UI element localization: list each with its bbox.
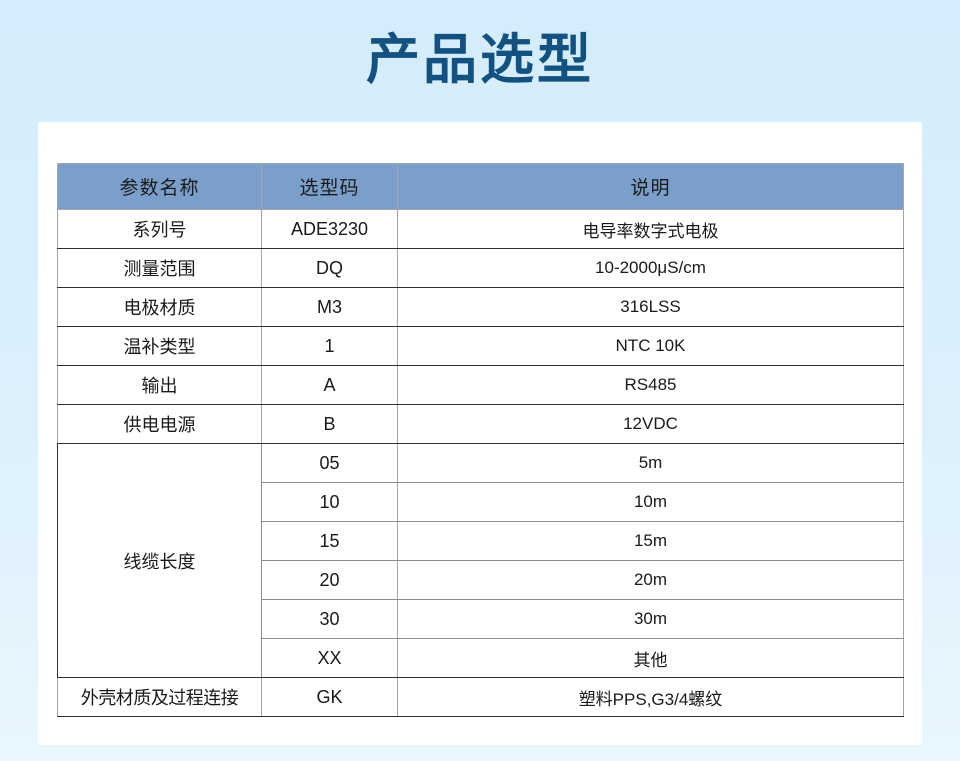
cell-description: 30m bbox=[398, 600, 904, 639]
page-title: 产品选型 bbox=[366, 33, 594, 87]
table-header-row: 参数名称 选型码 说明 bbox=[58, 164, 904, 210]
cell-parameter-name: 电极材质 bbox=[58, 288, 262, 327]
cell-selection-code: 30 bbox=[262, 600, 398, 639]
cell-description: 5m bbox=[398, 444, 904, 483]
product-selection-table: 参数名称 选型码 说明 系列号 ADE3230 电导率数字式电极 测量范围 DQ… bbox=[57, 163, 904, 717]
table-row: 输出 A RS485 bbox=[58, 366, 904, 405]
cell-selection-code: B bbox=[262, 405, 398, 444]
cell-parameter-name: 温补类型 bbox=[58, 327, 262, 366]
cell-description: 塑料PPS,G3/4螺纹 bbox=[398, 678, 904, 717]
cell-selection-code: 1 bbox=[262, 327, 398, 366]
cell-parameter-name: 供电电源 bbox=[58, 405, 262, 444]
cell-selection-code: GK bbox=[262, 678, 398, 717]
cell-description: RS485 bbox=[398, 366, 904, 405]
cell-selection-code: 05 bbox=[262, 444, 398, 483]
cell-description: 12VDC bbox=[398, 405, 904, 444]
cell-selection-code: DQ bbox=[262, 249, 398, 288]
cell-parameter-name-cable-length: 线缆长度 bbox=[58, 444, 262, 678]
cell-description: 其他 bbox=[398, 639, 904, 678]
page-title-area: 产品选型 bbox=[0, 0, 960, 120]
table-row: 供电电源 B 12VDC bbox=[58, 405, 904, 444]
cell-parameter-name: 输出 bbox=[58, 366, 262, 405]
cell-description: NTC 10K bbox=[398, 327, 904, 366]
cell-description: 20m bbox=[398, 561, 904, 600]
cell-selection-code: ADE3230 bbox=[262, 210, 398, 249]
cell-description: 10m bbox=[398, 483, 904, 522]
cell-description: 316LSS bbox=[398, 288, 904, 327]
cell-selection-code: 15 bbox=[262, 522, 398, 561]
table-header: 参数名称 选型码 说明 bbox=[58, 164, 904, 210]
table-row: 测量范围 DQ 10-2000μS/cm bbox=[58, 249, 904, 288]
table-row: 电极材质 M3 316LSS bbox=[58, 288, 904, 327]
cell-selection-code: A bbox=[262, 366, 398, 405]
cell-parameter-name: 外壳材质及过程连接 bbox=[58, 678, 262, 717]
cell-description: 10-2000μS/cm bbox=[398, 249, 904, 288]
product-selection-page: 产品选型 参数名称 选型码 说明 系列号 ADE3230 电导率数字式 bbox=[0, 0, 960, 761]
cell-parameter-name: 系列号 bbox=[58, 210, 262, 249]
cell-selection-code: 10 bbox=[262, 483, 398, 522]
column-header-parameter-name: 参数名称 bbox=[58, 164, 262, 210]
content-card: 参数名称 选型码 说明 系列号 ADE3230 电导率数字式电极 测量范围 DQ… bbox=[38, 122, 922, 745]
table-row: 系列号 ADE3230 电导率数字式电极 bbox=[58, 210, 904, 249]
column-header-description: 说明 bbox=[398, 164, 904, 210]
cell-parameter-name: 测量范围 bbox=[58, 249, 262, 288]
column-header-selection-code: 选型码 bbox=[262, 164, 398, 210]
cell-description: 电导率数字式电极 bbox=[398, 210, 904, 249]
cell-description: 15m bbox=[398, 522, 904, 561]
cell-selection-code: 20 bbox=[262, 561, 398, 600]
table-row: 温补类型 1 NTC 10K bbox=[58, 327, 904, 366]
table-body: 系列号 ADE3230 电导率数字式电极 测量范围 DQ 10-2000μS/c… bbox=[58, 210, 904, 717]
cell-selection-code: M3 bbox=[262, 288, 398, 327]
cell-selection-code: XX bbox=[262, 639, 398, 678]
table-row: 线缆长度 05 5m bbox=[58, 444, 904, 483]
table-row: 外壳材质及过程连接 GK 塑料PPS,G3/4螺纹 bbox=[58, 678, 904, 717]
